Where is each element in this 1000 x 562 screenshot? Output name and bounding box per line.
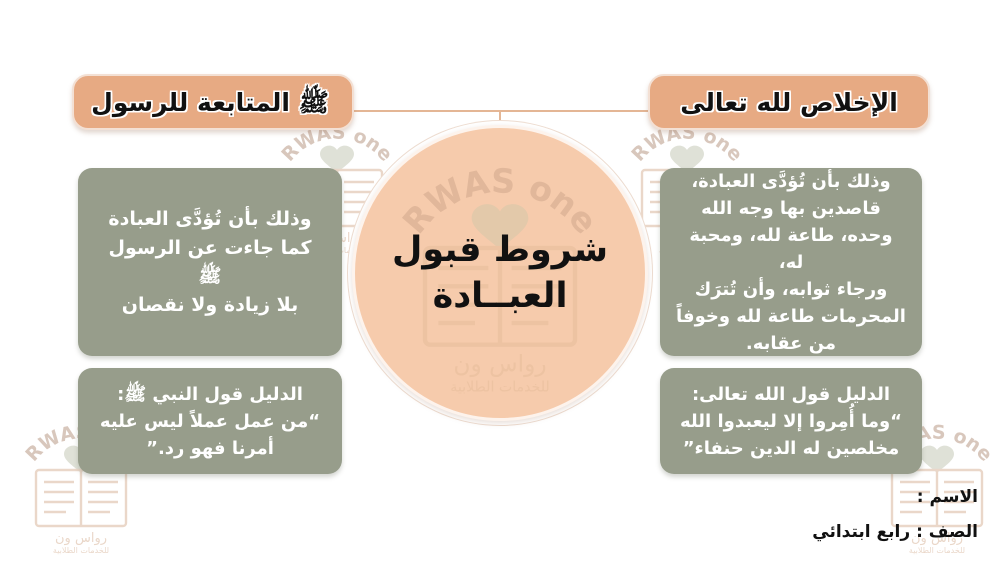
branch-body-right-line: وذلك بأن تُؤدَّى العبادة، [676,168,906,195]
branch-header-left-label: المتابعة للرسول [91,88,290,117]
student-fields: الاسم : الصف : رابع ابتدائي [812,480,978,550]
branch-proof-left-line: أمرنا فهو رد.” [100,435,320,462]
branch-proof-right-line: “وما أُمِروا إلا ليعبدوا الله [680,408,902,435]
svg-text:للخدمات الطلابية: للخدمات الطلابية [53,546,109,555]
branch-proof-right-line: مخلصين له الدين حنفاء” [680,435,902,462]
branch-body-right: وذلك بأن تُؤدَّى العبادة، قاصدين بها وجه… [660,168,922,356]
branch-body-left: وذلك بأن تُؤدَّى العبادة كما جاءت عن الر… [78,168,342,356]
center-title: شروط قبول العبــادة [355,128,645,418]
student-grade-label: الصف : رابع ابتدائي [812,515,978,550]
svg-text:رواس ون: رواس ون [55,531,107,546]
branch-body-right-line: وحده، طاعة لله، ومحبة له، [676,222,906,276]
branch-body-right-line: من عقابه. [676,330,906,357]
center-circle: RWAS one رواس ون للخدمات الطلابية شروط ق… [352,125,648,421]
infographic-canvas: RWAS one رواس ون للخدمات الطلابية RWAS o… [0,0,1000,562]
honorific-salla-icon: ﷺ [299,88,329,117]
branch-proof-right-heading: الدليل قول الله تعالى: [680,381,902,408]
center-title-line-1: شروط قبول [392,230,608,270]
branch-header-right[interactable]: الإخلاص لله تعالى [648,74,930,130]
student-name-label: الاسم : [812,480,978,515]
center-title-line-2: العبــادة [433,276,568,316]
branch-header-right-label: الإخلاص لله تعالى [680,88,898,117]
branch-body-right-line: المحرمات طاعة لله وخوفاً [676,303,906,330]
branch-header-left[interactable]: ﷺ المتابعة للرسول [72,74,354,130]
branch-body-left-line: وذلك بأن تُؤدَّى العبادة [94,205,326,234]
branch-body-right-line: ورجاء ثوابه، وأن تُترَك [676,276,906,303]
branch-proof-left-heading: الدليل قول النبي ﷺ: [100,381,320,408]
branch-body-left-line: كما جاءت عن الرسول ﷺ [94,234,326,291]
branch-proof-left-line: “من عمل عملاً ليس عليه [100,408,320,435]
branch-proof-right: الدليل قول الله تعالى: “وما أُمِروا إلا … [660,368,922,474]
branch-body-right-line: قاصدين بها وجه الله [676,195,906,222]
branch-proof-left: الدليل قول النبي ﷺ: “من عمل عملاً ليس عل… [78,368,342,474]
branch-body-left-line: بلا زيادة ولا نقصان [94,291,326,320]
